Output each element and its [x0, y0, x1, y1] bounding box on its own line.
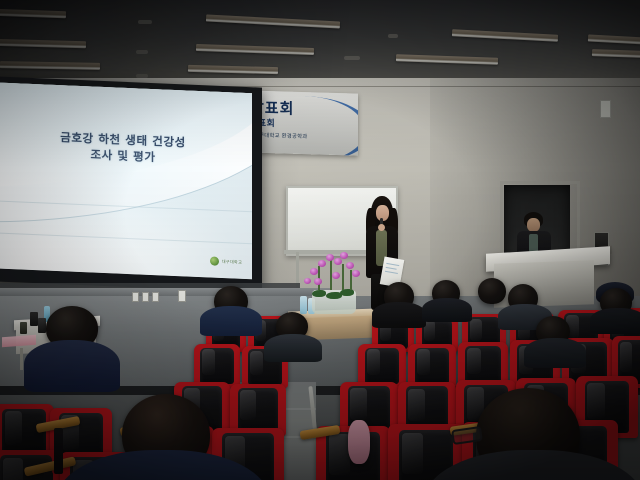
seat-sheen — [3, 458, 23, 480]
audience-shoulders — [372, 302, 426, 328]
event-banner: 발표회 발표회 : 대구대학교 환경공학과 — [246, 90, 358, 155]
slide-rule — [0, 233, 252, 245]
seat-sheen — [620, 342, 632, 372]
seat-sheen — [250, 351, 263, 375]
armrest-post — [44, 472, 53, 480]
seat-sheen — [587, 383, 604, 419]
seat-sheen — [417, 349, 430, 375]
seat-sheen — [367, 349, 380, 375]
wall-box — [600, 100, 611, 118]
audience-shoulders — [24, 340, 120, 392]
orchid-bloom — [340, 252, 348, 259]
seat-sheen — [350, 388, 366, 419]
seat-sheen — [408, 389, 424, 421]
seat-sheen — [402, 433, 423, 475]
orchid-bloom — [346, 262, 354, 269]
operator-top — [529, 234, 538, 252]
armrest-post — [54, 428, 63, 474]
audience-shoulders — [200, 306, 262, 336]
seat-sheen — [202, 349, 215, 375]
leaf-shape — [312, 290, 326, 297]
seat-sheen — [467, 348, 481, 375]
orchid-bloom — [310, 268, 318, 275]
presenter-hand — [378, 224, 385, 231]
audience-neck — [348, 420, 370, 464]
seat-sheen — [329, 434, 350, 475]
audience-seating — [0, 300, 640, 480]
audience-shoulders — [524, 338, 586, 368]
projection-screen: 금호강 하천 생태 건강성 조사 및 평가 대구대학교 — [0, 76, 262, 292]
photo-scene: 발표회 발표회 : 대구대학교 환경공학과 금호강 하천 생태 건강성 조사 및… — [0, 0, 640, 480]
operator-face — [527, 218, 540, 232]
leaf-shape — [340, 289, 354, 296]
ceiling-shadow — [0, 0, 640, 86]
slide-logo-text: 대구대학교 — [222, 258, 242, 265]
orchid-bloom — [334, 258, 342, 265]
seat-sheen — [240, 390, 256, 420]
leaf-logo-icon — [210, 256, 219, 265]
audience-shoulders — [590, 308, 640, 334]
screen-surface: 금호강 하천 생태 건강성 조사 및 평가 대구대학교 — [0, 83, 252, 280]
slide-logo: 대구대학교 — [210, 256, 242, 266]
audience-shoulders — [264, 334, 322, 362]
orchid-stem — [342, 264, 344, 290]
orchid-bloom — [326, 254, 334, 261]
orchid-bloom — [304, 278, 311, 284]
orchid-bloom — [314, 278, 322, 285]
orchid-bloom — [332, 272, 340, 279]
note-line — [386, 263, 399, 266]
seat-sheen — [470, 319, 482, 341]
audience-head — [478, 278, 506, 304]
seat-sheen — [5, 411, 22, 445]
note-line — [385, 271, 398, 274]
presentation-slide: 금호강 하천 생태 건강성 조사 및 평가 대구대학교 — [0, 83, 252, 280]
banner-shading — [246, 90, 358, 155]
audience-shoulders — [422, 298, 472, 322]
orchid-bloom — [352, 270, 360, 277]
note-line — [386, 267, 397, 270]
orchid-bloom — [318, 260, 326, 267]
